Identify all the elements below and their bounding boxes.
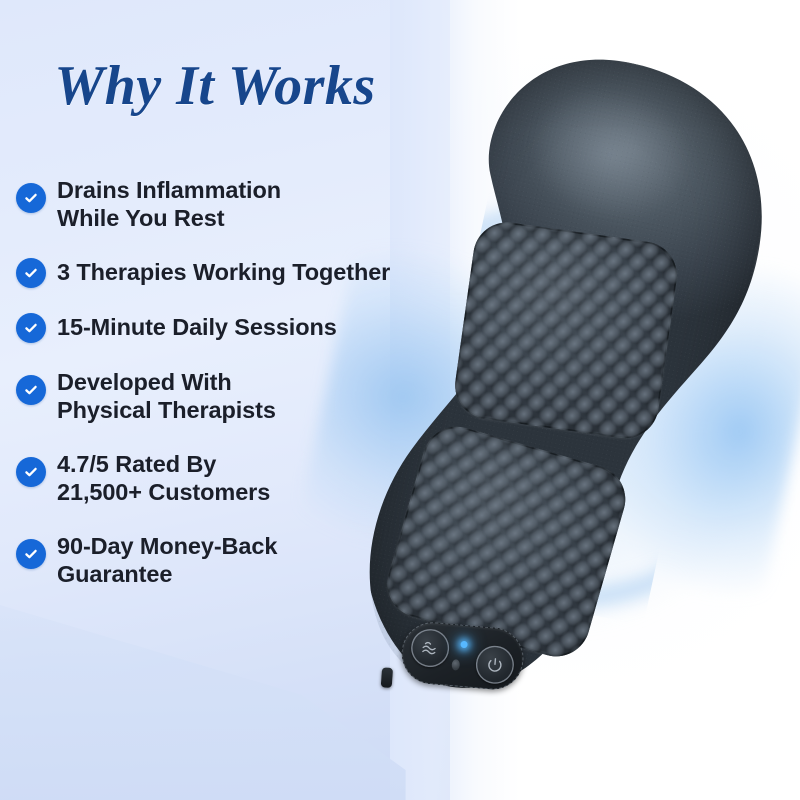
blue-led-indicator bbox=[460, 641, 468, 649]
quilted-pad-upper bbox=[451, 218, 682, 443]
list-item: Drains Inflammation While You Rest bbox=[16, 176, 446, 233]
list-item: 3 Therapies Working Together bbox=[16, 258, 446, 288]
list-item: 15-Minute Daily Sessions bbox=[16, 313, 446, 343]
heat-waves-icon[interactable] bbox=[410, 627, 451, 668]
power-icon[interactable] bbox=[474, 644, 515, 685]
device-control-panel[interactable] bbox=[399, 620, 526, 692]
check-circle-icon bbox=[16, 457, 46, 487]
benefit-label: 90-Day Money-Back Guarantee bbox=[57, 532, 277, 589]
benefit-label: 15-Minute Daily Sessions bbox=[57, 313, 337, 342]
check-circle-icon bbox=[16, 258, 46, 288]
benefit-label: Drains Inflammation While You Rest bbox=[57, 176, 281, 233]
check-circle-icon bbox=[16, 375, 46, 405]
list-item: 90-Day Money-Back Guarantee bbox=[16, 532, 446, 589]
benefit-label: Developed With Physical Therapists bbox=[57, 368, 276, 425]
cord-connector bbox=[381, 667, 393, 688]
check-circle-icon bbox=[16, 539, 46, 569]
check-circle-icon bbox=[16, 183, 46, 213]
check-circle-icon bbox=[16, 313, 46, 343]
benefits-list: Drains Inflammation While You Rest 3 The… bbox=[16, 176, 446, 589]
promo-graphic: Why It Works Drains Inflammation While Y… bbox=[0, 0, 800, 800]
secondary-indicator bbox=[451, 659, 460, 671]
list-item: Developed With Physical Therapists bbox=[16, 368, 446, 425]
page-title: Why It Works bbox=[0, 57, 430, 115]
benefit-label: 4.7/5 Rated By 21,500+ Customers bbox=[57, 450, 270, 507]
benefit-label: 3 Therapies Working Together bbox=[57, 258, 390, 287]
list-item: 4.7/5 Rated By 21,500+ Customers bbox=[16, 450, 446, 507]
